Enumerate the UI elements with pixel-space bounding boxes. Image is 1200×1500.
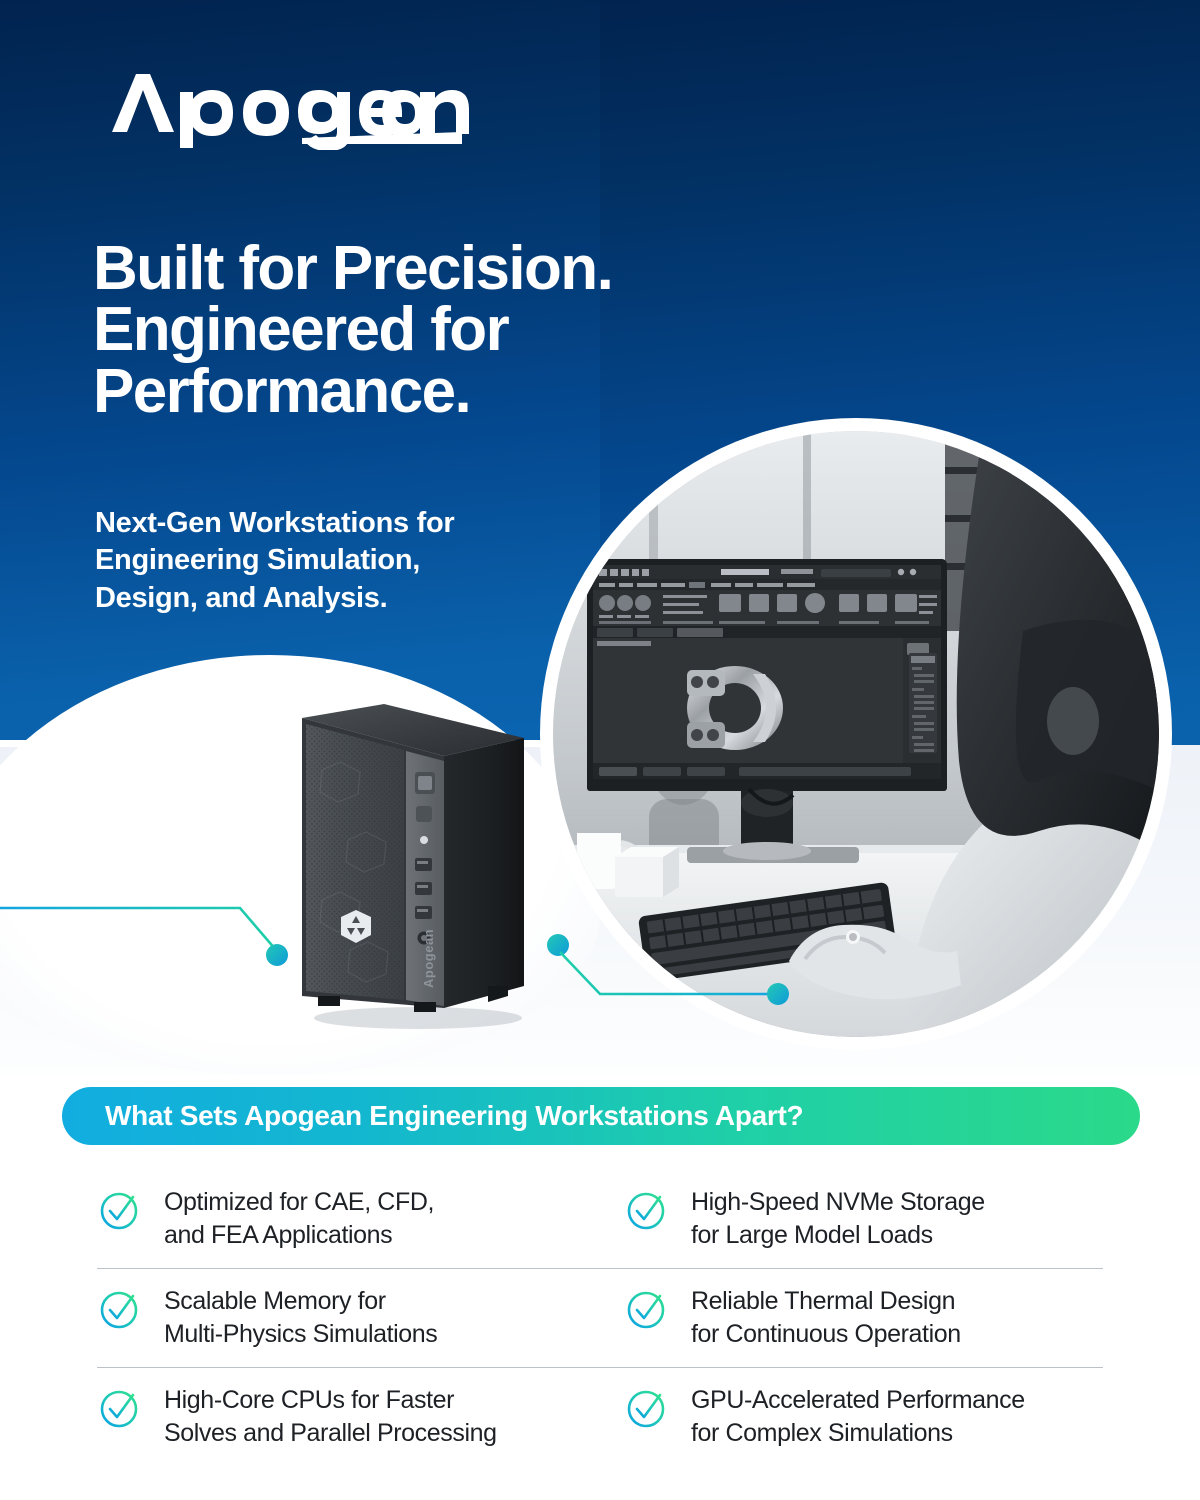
- feature-line: for Continuous Operation: [691, 1318, 961, 1351]
- feature-text: High-Speed NVMe Storage for Large Model …: [691, 1186, 985, 1251]
- feature-line: Multi-Physics Simulations: [164, 1318, 437, 1351]
- feature-text: Optimized for CAE, CFD, and FEA Applicat…: [164, 1186, 434, 1251]
- check-circle-icon: [97, 1287, 141, 1331]
- check-circle-icon: [624, 1287, 668, 1331]
- feature-line: High-Core CPUs for Faster: [164, 1384, 497, 1417]
- headline-line-2: Engineered for: [93, 299, 733, 360]
- apogean-logotype: [110, 70, 470, 150]
- feature-text: High-Core CPUs for Faster Solves and Par…: [164, 1384, 497, 1449]
- connector-line-left: [0, 908, 276, 950]
- brand-logo[interactable]: [110, 70, 470, 150]
- page-subtitle: Next-Gen Workstations for Engineering Si…: [95, 505, 655, 617]
- feature-line: Optimized for CAE, CFD,: [164, 1186, 434, 1219]
- features-row: Optimized for CAE, CFD, and FEA Applicat…: [97, 1170, 1103, 1268]
- feature-text: Scalable Memory for Multi-Physics Simula…: [164, 1285, 437, 1350]
- features-list: Optimized for CAE, CFD, and FEA Applicat…: [97, 1170, 1103, 1466]
- feature-line: High-Speed NVMe Storage: [691, 1186, 985, 1219]
- feature-text: GPU-Accelerated Performance for Complex …: [691, 1384, 1025, 1449]
- subhead-line-3: Design, and Analysis.: [95, 580, 655, 617]
- feature-line: Reliable Thermal Design: [691, 1285, 961, 1318]
- feature-item-2[interactable]: Scalable Memory for Multi-Physics Simula…: [97, 1269, 600, 1367]
- callout-dot-right-upper: [547, 934, 569, 956]
- callout-dot-left: [266, 944, 288, 966]
- feature-line: for Complex Simulations: [691, 1417, 1025, 1450]
- features-row: Scalable Memory for Multi-Physics Simula…: [97, 1269, 1103, 1367]
- headline-line-3: Performance.: [93, 361, 733, 422]
- headline-line-1: Built for Precision.: [93, 238, 733, 299]
- feature-item-1[interactable]: High-Speed NVMe Storage for Large Model …: [600, 1170, 1103, 1268]
- feature-line: Solves and Parallel Processing: [164, 1417, 497, 1450]
- features-banner: What Sets Apogean Engineering Workstatio…: [62, 1087, 1140, 1145]
- check-circle-icon: [624, 1188, 668, 1232]
- check-circle-icon: [624, 1386, 668, 1430]
- feature-item-5[interactable]: GPU-Accelerated Performance for Complex …: [600, 1368, 1103, 1466]
- feature-line: and FEA Applications: [164, 1219, 434, 1252]
- feature-item-0[interactable]: Optimized for CAE, CFD, and FEA Applicat…: [97, 1170, 600, 1268]
- subhead-line-2: Engineering Simulation,: [95, 542, 655, 579]
- subhead-line-1: Next-Gen Workstations for: [95, 505, 655, 542]
- connector-line-right: [560, 952, 772, 994]
- hero-section: Built for Precision. Engineered for Perf…: [0, 0, 1200, 1075]
- check-circle-icon: [97, 1188, 141, 1232]
- feature-text: Reliable Thermal Design for Continuous O…: [691, 1285, 961, 1350]
- page-title: Built for Precision. Engineered for Perf…: [93, 238, 733, 422]
- feature-item-4[interactable]: High-Core CPUs for Faster Solves and Par…: [97, 1368, 600, 1466]
- callout-connectors: [0, 860, 820, 1040]
- feature-line: Scalable Memory for: [164, 1285, 437, 1318]
- feature-line: GPU-Accelerated Performance: [691, 1384, 1025, 1417]
- features-banner-title: What Sets Apogean Engineering Workstatio…: [62, 1100, 803, 1132]
- callout-dot-right-lower: [767, 983, 789, 1005]
- check-circle-icon: [97, 1386, 141, 1430]
- features-row: High-Core CPUs for Faster Solves and Par…: [97, 1368, 1103, 1466]
- feature-line: for Large Model Loads: [691, 1219, 985, 1252]
- feature-item-3[interactable]: Reliable Thermal Design for Continuous O…: [600, 1269, 1103, 1367]
